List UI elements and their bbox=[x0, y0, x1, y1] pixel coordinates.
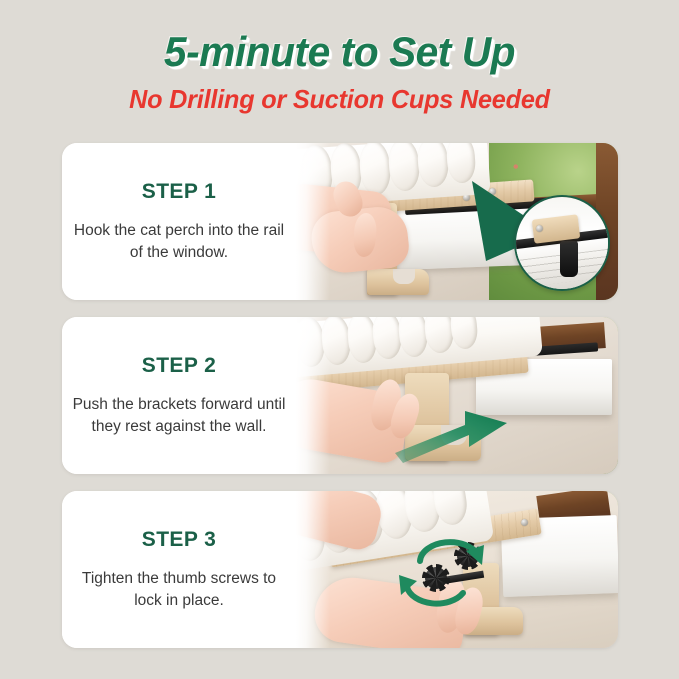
step-card-3: STEP 3 Tighten the thumb screws to lock … bbox=[62, 491, 618, 648]
page-subtitle: No Drilling or Suction Cups Needed bbox=[10, 84, 669, 115]
step-3-text-panel: STEP 3 Tighten the thumb screws to lock … bbox=[62, 491, 296, 648]
cushion-roll bbox=[296, 497, 328, 564]
step-1-description: Hook the cat perch into the rail of the … bbox=[72, 220, 286, 263]
forward-arrow-icon bbox=[393, 391, 533, 471]
board-screw-1 bbox=[309, 381, 316, 388]
step-card-2: STEP 2 Push the brackets forward until t… bbox=[62, 317, 618, 474]
rotation-arrow-lower-icon bbox=[393, 563, 471, 619]
step-2-photo bbox=[296, 317, 618, 474]
hook-detail-inset bbox=[514, 195, 610, 291]
step-3-photo bbox=[296, 491, 618, 648]
step-3-label: STEP 3 bbox=[142, 528, 216, 552]
step-1-photo bbox=[296, 143, 618, 300]
cushion-roll bbox=[301, 144, 335, 200]
step-2-label: STEP 2 bbox=[142, 354, 216, 378]
step-1-label: STEP 1 bbox=[142, 180, 216, 204]
step-2-text-panel: STEP 2 Push the brackets forward until t… bbox=[62, 317, 296, 474]
header: 5-minute to Set Up No Drilling or Suctio… bbox=[0, 0, 679, 115]
step-3-description: Tighten the thumb screws to lock in plac… bbox=[72, 568, 286, 611]
page-title: 5-minute to Set Up bbox=[10, 31, 669, 73]
bracket-hook-notch bbox=[393, 269, 415, 284]
inset-hook-clip bbox=[560, 241, 578, 277]
step-card-1: STEP 1 Hook the cat perch into the rail … bbox=[62, 143, 618, 300]
step-2-description: Push the brackets forward until they res… bbox=[72, 394, 286, 437]
inset-screw bbox=[536, 225, 543, 232]
steps-list: STEP 1 Hook the cat perch into the rail … bbox=[62, 143, 618, 665]
cushion-roll bbox=[296, 317, 326, 368]
step-1-text-panel: STEP 1 Hook the cat perch into the rail … bbox=[62, 143, 296, 300]
